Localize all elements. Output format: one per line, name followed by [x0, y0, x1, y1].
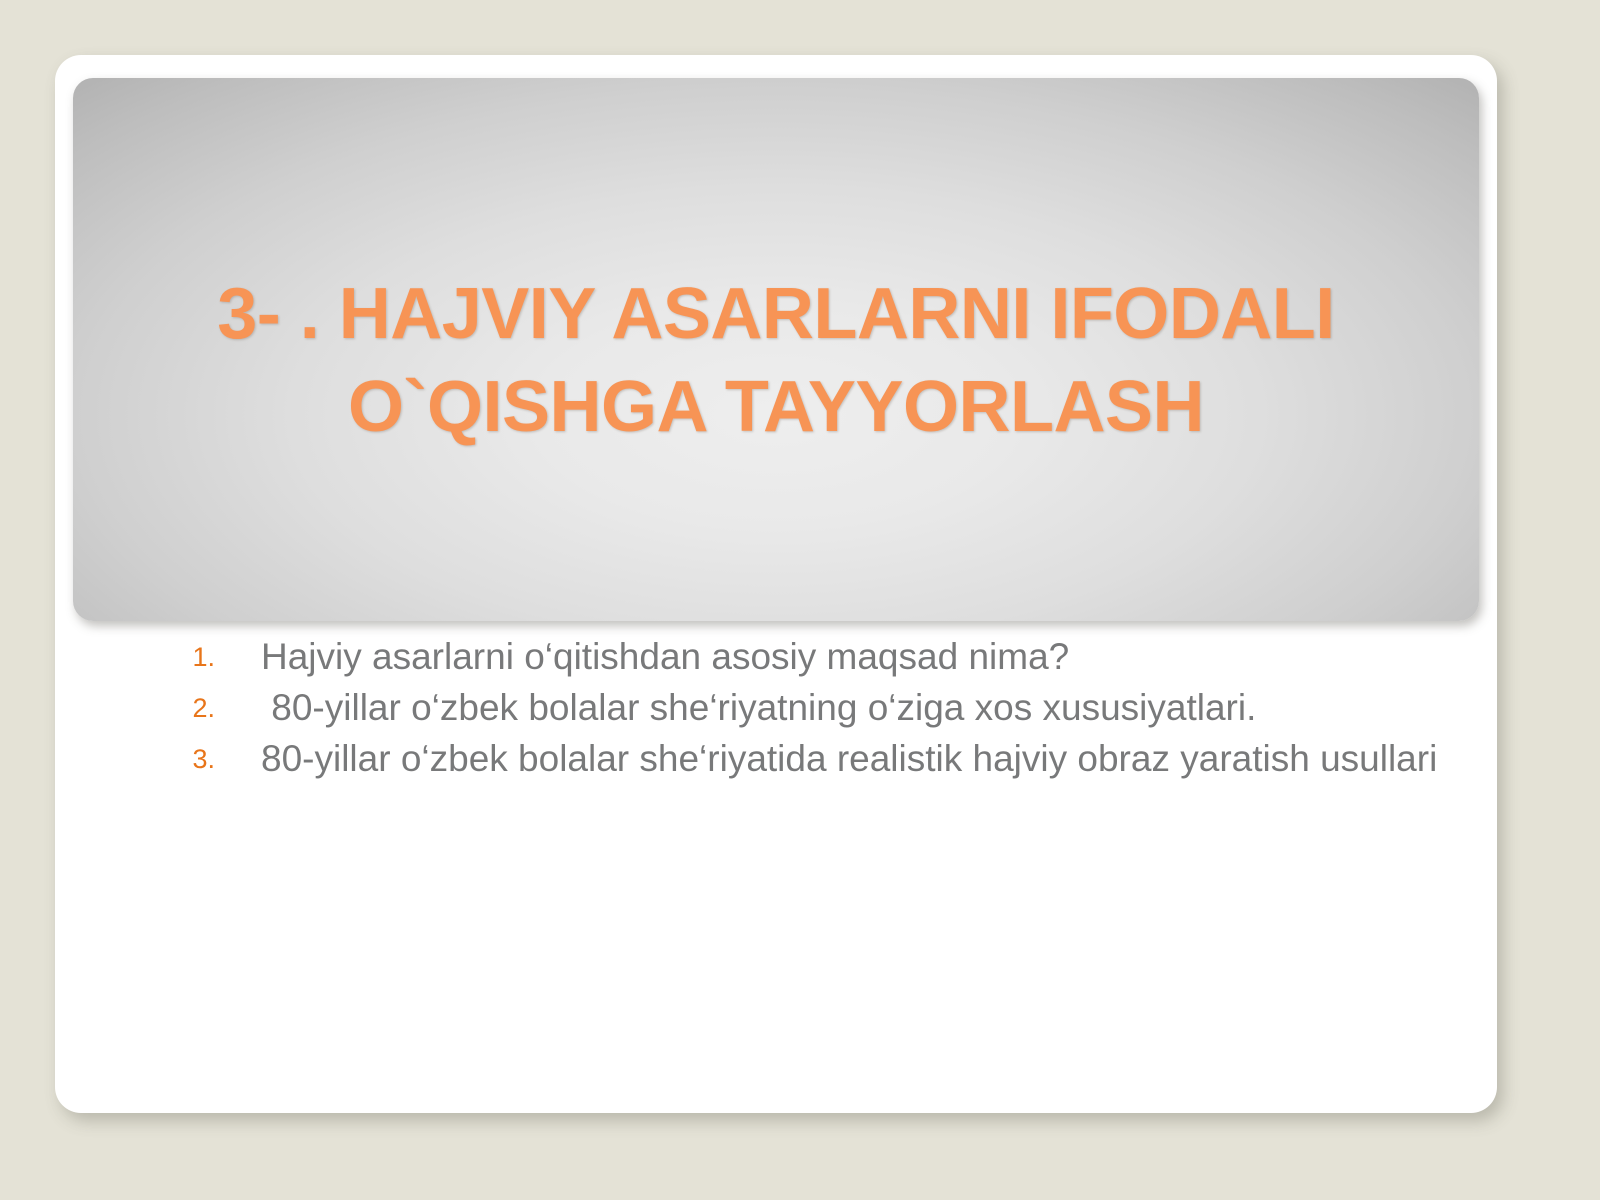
- list-item: 80-yillar o‘zbek bolalar she‘riyatning o…: [169, 684, 1439, 733]
- list-item: Hajviy asarlarni o‘qitishdan asosiy maqs…: [169, 633, 1439, 682]
- slide-body: Hajviy asarlarni o‘qitishdan asosiy maqs…: [73, 633, 1479, 1093]
- title-panel: 3- . HAJVIY ASARLARNI IFODALI O`QISHGA T…: [73, 78, 1479, 621]
- list-item: 80-yillar o‘zbek bolalar she‘riyatida re…: [169, 735, 1439, 784]
- content-list: Hajviy asarlarni o‘qitishdan asosiy maqs…: [73, 633, 1479, 783]
- slide-card: 3- . HAJVIY ASARLARNI IFODALI O`QISHGA T…: [55, 55, 1497, 1113]
- slide-stage: 3- . HAJVIY ASARLARNI IFODALI O`QISHGA T…: [0, 0, 1600, 1200]
- slide-title: 3- . HAJVIY ASARLARNI IFODALI O`QISHGA T…: [115, 246, 1437, 452]
